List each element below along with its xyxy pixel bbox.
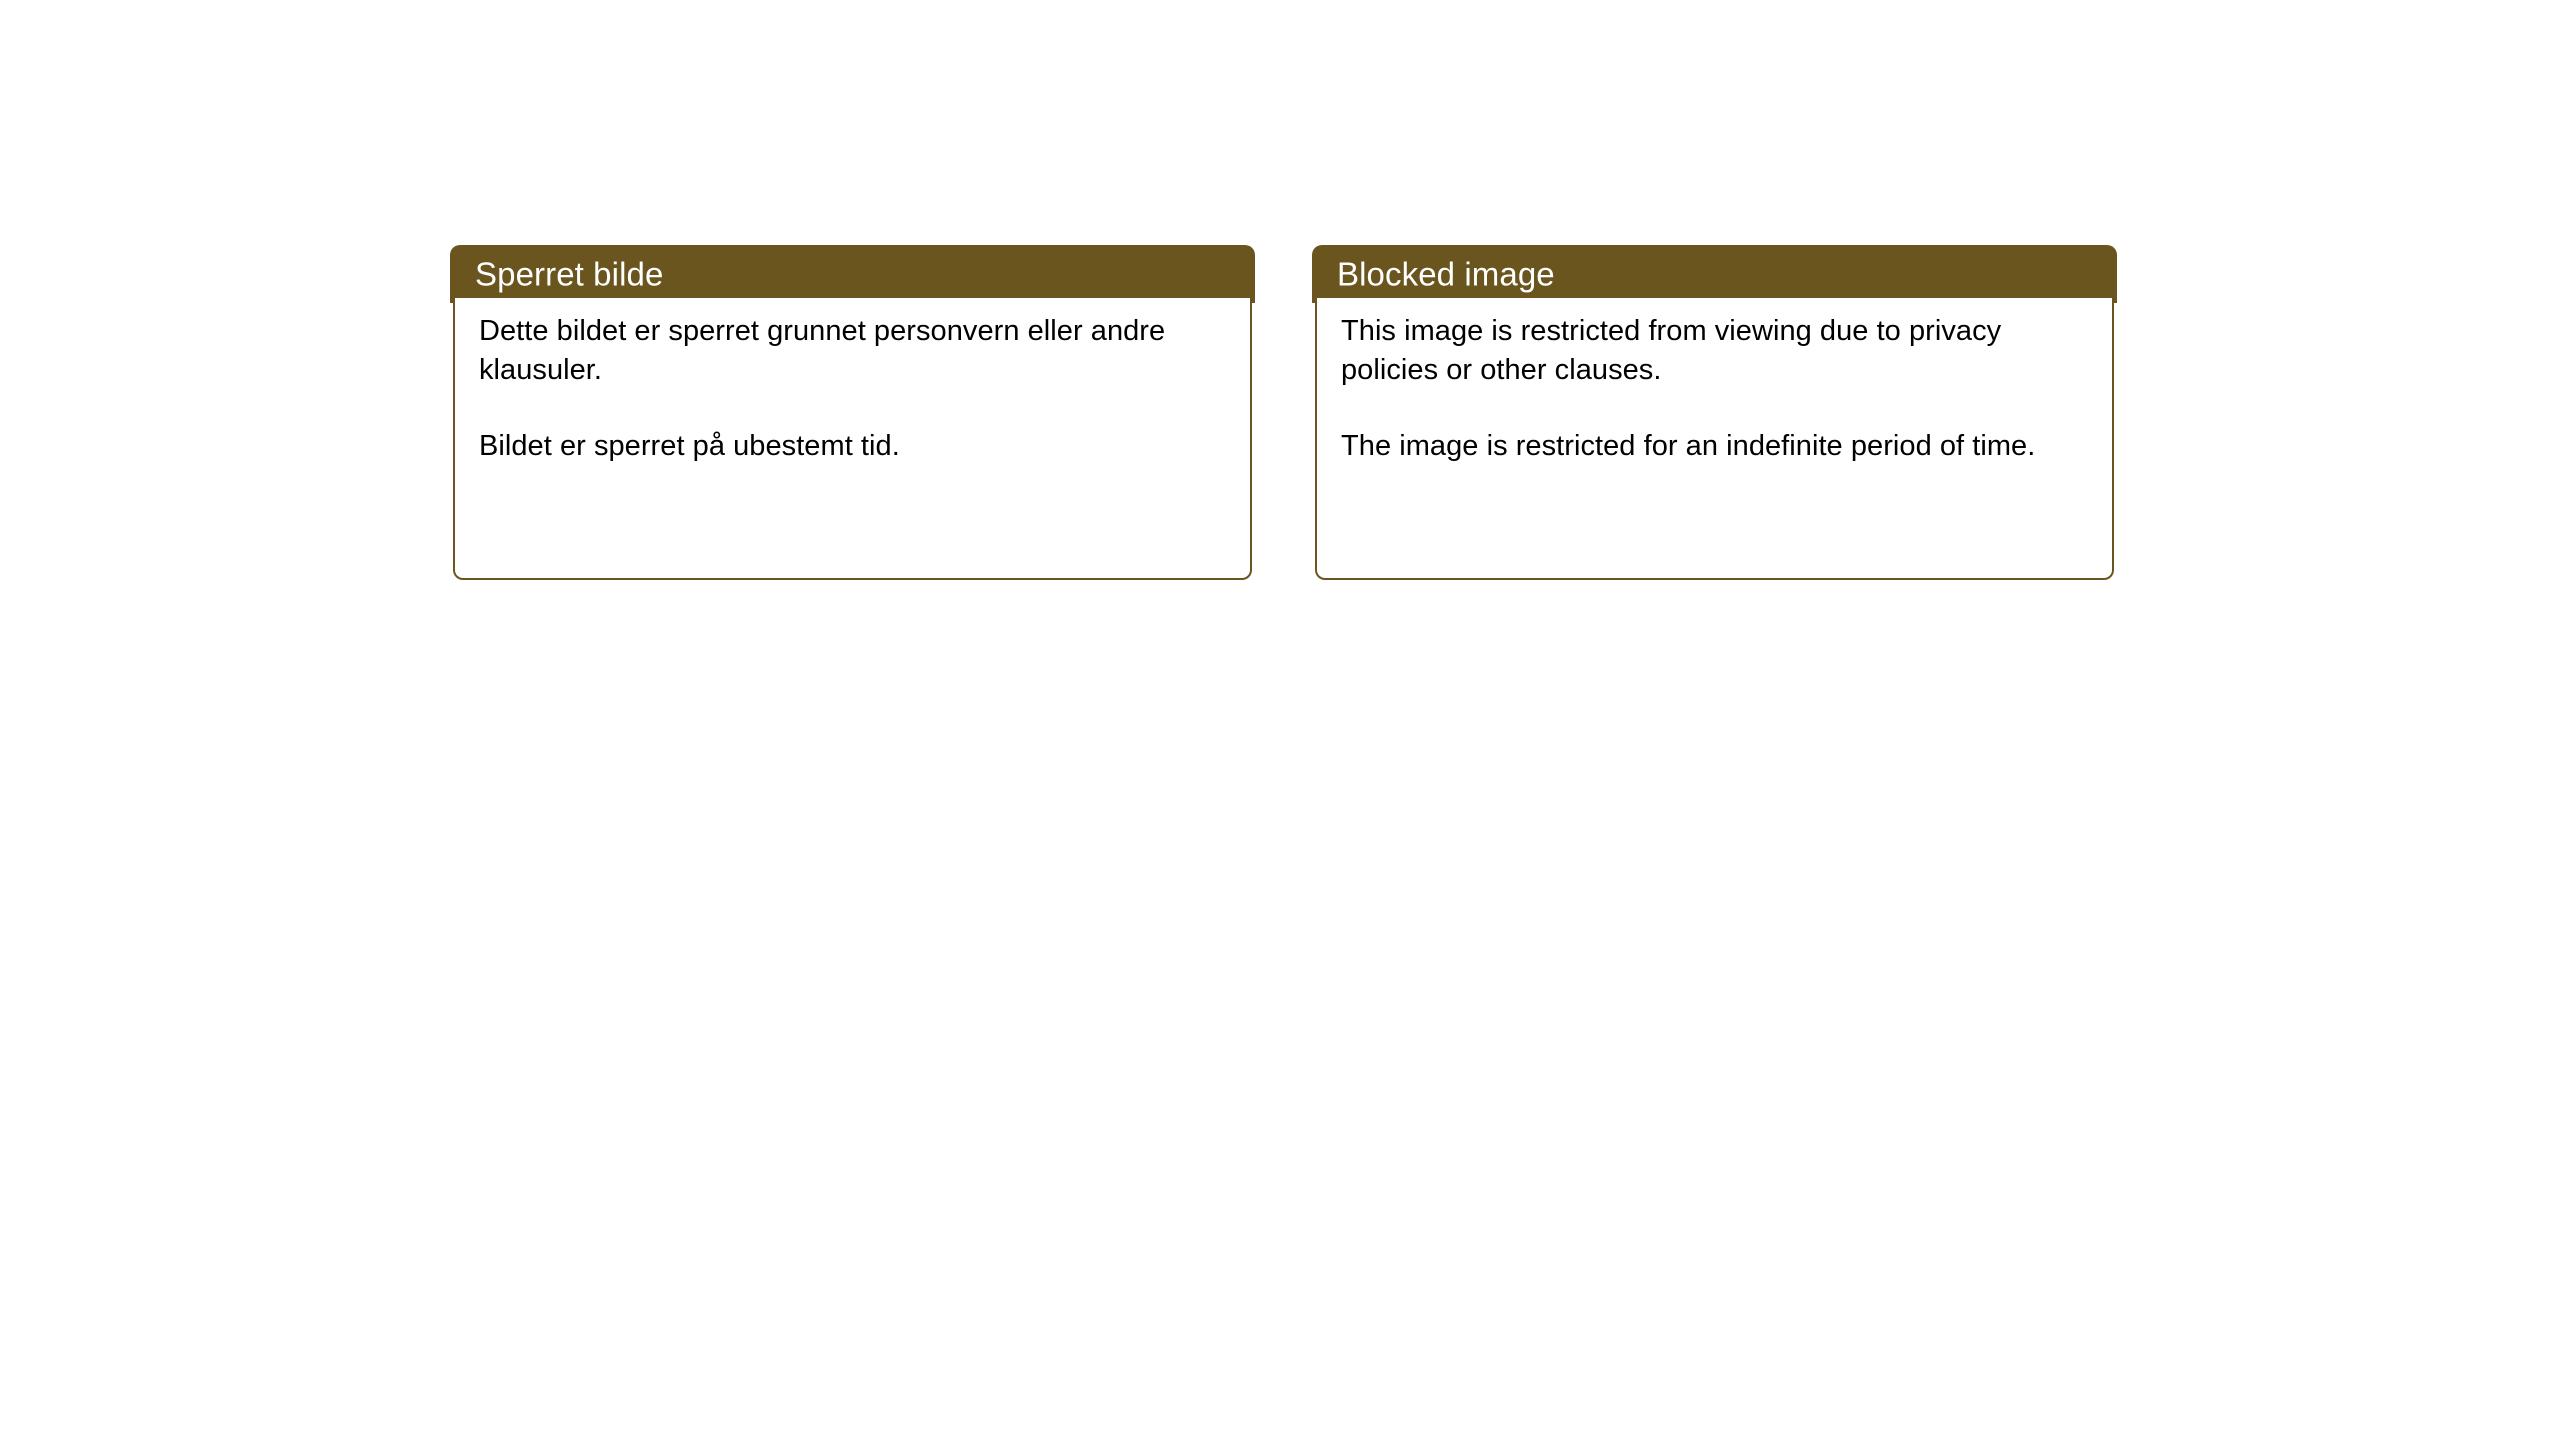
blocked-image-notice-english: Blocked image This image is restricted f… bbox=[1312, 245, 2117, 580]
notice-title-english: Blocked image bbox=[1337, 258, 1555, 291]
notice-paragraph-secondary-norwegian: Bildet er sperret på ubestemt tid. bbox=[479, 427, 1226, 466]
blocked-image-notice-norwegian: Sperret bilde Dette bildet er sperret gr… bbox=[450, 245, 1255, 580]
notice-title-norwegian: Sperret bilde bbox=[475, 258, 663, 291]
notice-header-bar-norwegian: Sperret bilde bbox=[450, 245, 1255, 303]
notice-header-bar-english: Blocked image bbox=[1312, 245, 2117, 303]
notice-body-norwegian: Dette bildet er sperret grunnet personve… bbox=[453, 298, 1252, 580]
notice-paragraph-primary-norwegian: Dette bildet er sperret grunnet personve… bbox=[479, 312, 1226, 389]
notice-paragraph-secondary-english: The image is restricted for an indefinit… bbox=[1341, 427, 2088, 466]
notice-body-english: This image is restricted from viewing du… bbox=[1315, 298, 2114, 580]
page-canvas: Sperret bilde Dette bildet er sperret gr… bbox=[0, 0, 2560, 1440]
notice-paragraph-primary-english: This image is restricted from viewing du… bbox=[1341, 312, 2088, 389]
